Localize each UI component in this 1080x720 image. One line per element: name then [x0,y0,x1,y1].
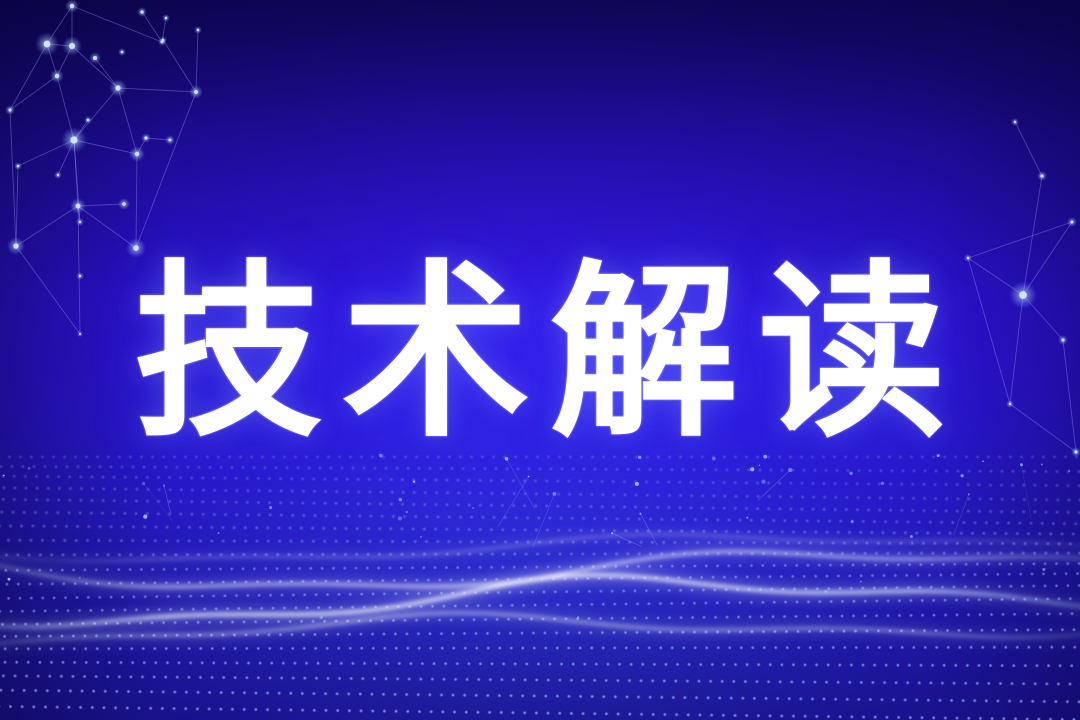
wave-sparkle [406,511,409,514]
wave-sparkle [960,474,963,477]
wave-sparkle [3,475,5,477]
wave-sparkle [860,581,862,583]
wave-sparkle [824,590,827,593]
wave-sparkle [750,467,754,471]
wave-sparkle [1042,568,1045,571]
wave-sparkle [746,517,748,519]
wave-sparkle-link [164,486,171,514]
tech-banner: 技术解读 [0,0,1080,720]
wave-sparkle [8,578,11,581]
wave-sparkle-link [640,514,657,546]
wave-sparkle [28,467,31,470]
wave-sparkle [320,616,323,619]
wave-sparkle [1041,464,1043,466]
wave-sparkle [759,464,760,465]
wave-sparkle [881,482,884,485]
wave-sparkle [398,516,402,520]
wave-sparkle [910,535,913,538]
wave-sparkle [982,460,984,462]
wave-sparkle [399,498,402,501]
wave-sparkle-link [507,459,535,509]
wave-sparkle-link [954,494,969,535]
page-title: 技术解读 [114,260,966,448]
wave-sparkle-link [758,470,791,501]
wave-sparkle [420,536,422,538]
wave-sparkle [143,514,147,518]
wave-sparkle [851,520,854,523]
wave-sparkle-link [498,477,529,527]
wave-sparkle [472,507,474,509]
wave-sparkle [849,472,852,475]
wave-sparkle [1068,470,1070,472]
headline-container: 技术解读 [0,249,1080,459]
wave-sparkle [218,532,220,534]
wave-sparkle-link [1021,465,1031,521]
wave-sparkle [79,577,81,579]
wave-sparkle [761,480,765,484]
wave-sparkle [269,506,272,509]
wave-sparkle [577,616,579,618]
wave-sparkle [413,480,415,482]
